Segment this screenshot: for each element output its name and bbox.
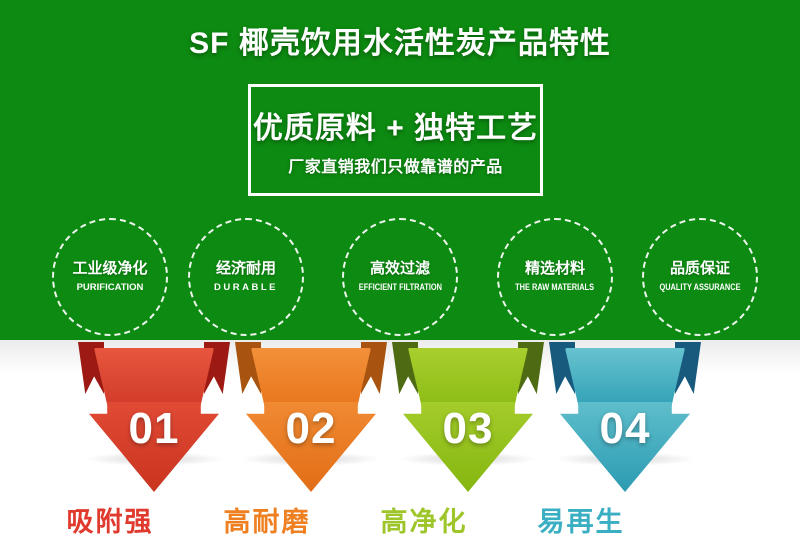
feature-circle-subtitle: THE RAW MATERIALS [516, 282, 595, 293]
step-label-03: 高净化 [344, 500, 504, 539]
step-number: 02 [235, 404, 387, 454]
step-label-01: 吸附强 [30, 500, 190, 539]
promo-banner: SF 椰壳饮用水活性炭产品特性 优质原料 + 独特工艺 厂家直销我们只做靠谱的产… [0, 0, 800, 550]
promo-sub-text: 厂家直销我们只做靠谱的产品 [288, 153, 503, 177]
promo-main-text: 优质原料 + 独特工艺 [253, 103, 538, 147]
ribbon-banner [78, 342, 230, 394]
step-label-04: 易再生 [501, 500, 661, 539]
step-arrow-04[interactable]: 04 [549, 342, 701, 492]
step-number: 01 [78, 404, 230, 454]
feature-circle-subtitle: PURIFICATION [77, 282, 144, 293]
feature-circle-title: 精选材料 [525, 261, 585, 278]
feature-circle-title: 品质保证 [670, 261, 730, 278]
step-number: 04 [549, 404, 701, 454]
ribbon-banner [392, 342, 544, 394]
ribbon-face [251, 348, 371, 410]
feature-circle-4: 精选材料THE RAW MATERIALS [497, 218, 613, 336]
step-arrow-01[interactable]: 01 [78, 342, 230, 492]
step-arrow-03[interactable]: 03 [392, 342, 544, 492]
feature-circle-title: 工业级净化 [72, 261, 147, 278]
feature-circle-title: 高效过滤 [370, 261, 430, 278]
feature-circle-2: 经济耐用DURABLE [188, 218, 304, 336]
feature-circle-title: 经济耐用 [216, 261, 276, 278]
feature-circle-1: 工业级净化PURIFICATION [52, 218, 168, 336]
feature-circle-subtitle: DURABLE [214, 282, 278, 293]
promo-highlight-box: 优质原料 + 独特工艺 厂家直销我们只做靠谱的产品 [248, 84, 543, 196]
ribbon-face [408, 348, 528, 410]
feature-circle-subtitle: QUALITY ASSURANCE [659, 282, 740, 293]
step-number: 03 [392, 404, 544, 454]
page-title: SF 椰壳饮用水活性炭产品特性 [0, 18, 800, 62]
ribbon-banner [549, 342, 701, 394]
ribbon-face [565, 348, 685, 410]
feature-circle-list: 工业级净化PURIFICATION经济耐用DURABLE高效过滤EFFICIEN… [0, 218, 800, 336]
step-label-02: 高耐磨 [187, 500, 347, 539]
ribbon-face [94, 348, 214, 410]
ribbon-banner [235, 342, 387, 394]
feature-circle-5: 品质保证QUALITY ASSURANCE [642, 218, 758, 336]
feature-circle-subtitle: EFFICIENT FILTRATION [358, 282, 441, 293]
feature-circle-3: 高效过滤EFFICIENT FILTRATION [342, 218, 458, 336]
step-arrow-02[interactable]: 02 [235, 342, 387, 492]
